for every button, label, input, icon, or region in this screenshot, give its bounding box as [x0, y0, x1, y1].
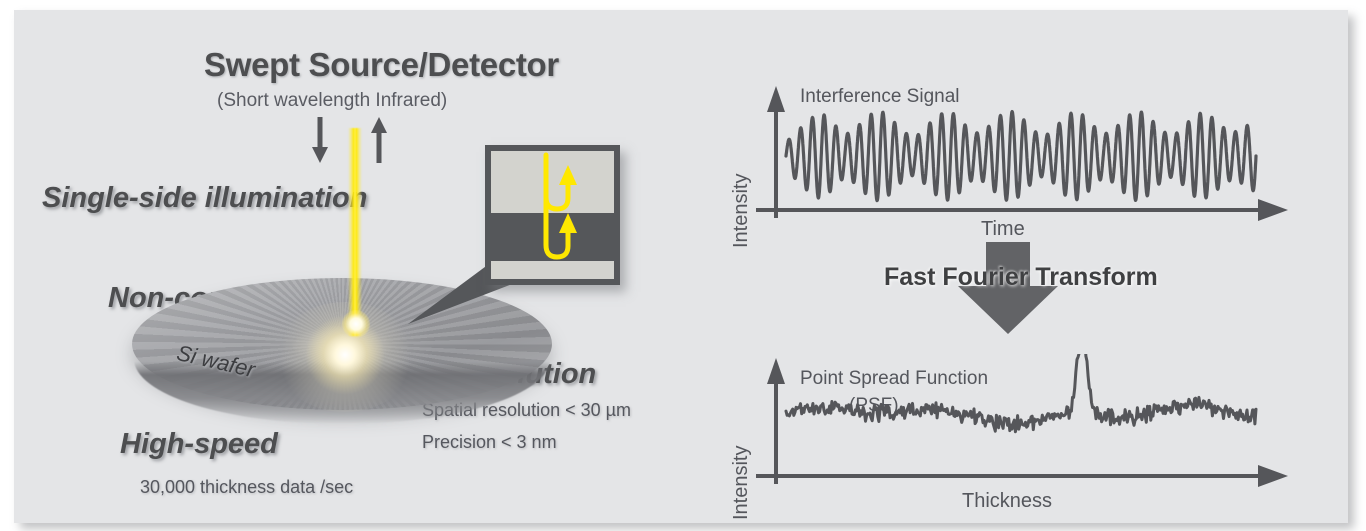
incident-beam-arrow-icon — [310, 116, 338, 164]
fft-label: Fast Fourier Transform — [884, 263, 1158, 292]
feature-label-single-side-illumination: Single-side illumination — [42, 182, 367, 215]
beam-spot — [342, 310, 370, 338]
chart-xlabel-thickness: Thickness — [962, 490, 1052, 513]
spec-throughput: 30,000 thickness data /sec — [140, 477, 353, 498]
page-title: Swept Source/Detector — [204, 46, 559, 84]
spec-precision: Precision < 3 nm — [422, 432, 557, 453]
feature-label-high-speed: High-speed — [120, 428, 278, 461]
chart-point-spread-function: Intensity Point Spread Function (PSF) Th… — [704, 350, 1304, 520]
inset-interior — [491, 151, 614, 279]
diagram-root: Swept Source/Detector (Short wavelength … — [0, 0, 1366, 531]
reflected-beam-arrow-icon — [369, 116, 397, 164]
diagram-panel: Swept Source/Detector (Short wavelength … — [14, 10, 1348, 523]
chart-interference-signal: Intensity Interference Signal Time — [704, 70, 1304, 240]
inset-reflection-arrows-icon — [491, 151, 614, 279]
chart-axes-and-trace-top — [740, 78, 1304, 230]
chart-axes-and-trace-bottom — [740, 354, 1304, 506]
layer-cross-section-inset — [485, 145, 620, 285]
page-subtitle: (Short wavelength Infrared) — [217, 90, 447, 112]
laser-beam — [348, 128, 362, 336]
chart-xlabel-time: Time — [981, 218, 1025, 241]
